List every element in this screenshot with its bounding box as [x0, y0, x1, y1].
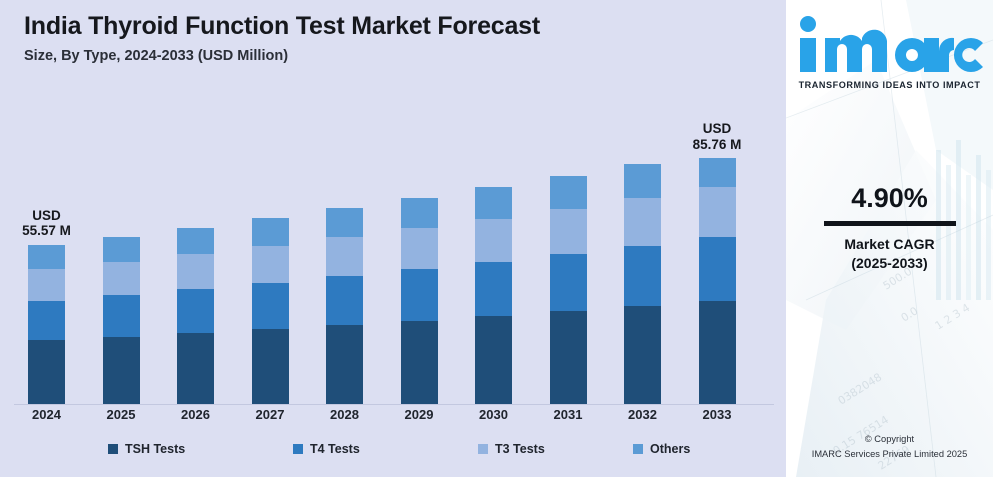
bar-segment-t4-tests-2024[interactable] — [28, 301, 65, 341]
bar-segment-others-2031[interactable] — [550, 176, 587, 209]
x-axis-tick-2027: 2027 — [240, 407, 300, 422]
bar-segment-t4-tests-2026[interactable] — [177, 289, 214, 333]
bar-segment-t3-tests-2029[interactable] — [401, 228, 438, 269]
bar-segment-tsh-tests-2028[interactable] — [326, 325, 363, 404]
cagr-label-period: (2025-2033) — [786, 254, 993, 273]
bar-segment-t3-tests-2033[interactable] — [699, 187, 736, 237]
page-title: India Thyroid Function Test Market Forec… — [24, 12, 744, 41]
bar-segment-t4-tests-2025[interactable] — [103, 295, 140, 337]
legend-item-tsh-tests[interactable]: TSH Tests — [108, 442, 185, 456]
x-axis-tick-2028: 2028 — [315, 407, 375, 422]
bar-segment-others-2033[interactable] — [699, 158, 736, 187]
bar-value-label-2024: USD55.57 M — [22, 208, 71, 239]
legend-label: T3 Tests — [495, 442, 545, 456]
bar-segment-t3-tests-2032[interactable] — [624, 198, 661, 246]
legend-item-t4-tests[interactable]: T4 Tests — [293, 442, 360, 456]
bar-segment-t4-tests-2030[interactable] — [475, 262, 512, 316]
cagr-value: 4.90% — [786, 185, 993, 212]
legend-swatch-icon — [633, 444, 643, 454]
bar-segment-tsh-tests-2026[interactable] — [177, 333, 214, 404]
legend-swatch-icon — [478, 444, 488, 454]
legend-swatch-icon — [108, 444, 118, 454]
bar-segment-t3-tests-2031[interactable] — [550, 209, 587, 254]
cagr-label-primary: Market CAGR — [786, 235, 993, 254]
bar-segment-t4-tests-2033[interactable] — [699, 237, 736, 301]
bar-segment-others-2030[interactable] — [475, 187, 512, 219]
x-axis-tick-2032: 2032 — [613, 407, 673, 422]
x-axis: 2024202520262027202820292030203120322033 — [0, 405, 786, 431]
brand-panel: 500.0 0.0 1 2 3 4 0382048 0.15 76514 227… — [786, 0, 993, 477]
bar-value-label-2033: USD85.76 M — [693, 121, 742, 152]
legend-label: Others — [650, 442, 690, 456]
x-axis-tick-2026: 2026 — [166, 407, 226, 422]
bar-group-2030[interactable] — [475, 187, 512, 404]
bar-segment-tsh-tests-2033[interactable] — [699, 301, 736, 404]
copyright-line-2: IMARC Services Private Limited 2025 — [786, 447, 993, 461]
bar-segment-tsh-tests-2029[interactable] — [401, 321, 438, 404]
bar-segment-t4-tests-2032[interactable] — [624, 246, 661, 306]
bar-group-2026[interactable] — [177, 228, 214, 404]
brand-content: TRANSFORMING IDEAS INTO IMPACT 4.90% Mar… — [786, 0, 993, 477]
bar-group-2031[interactable] — [550, 176, 587, 404]
bar-segment-t3-tests-2030[interactable] — [475, 219, 512, 262]
brand-tagline: TRANSFORMING IDEAS INTO IMPACT — [786, 80, 993, 90]
bar-segment-others-2028[interactable] — [326, 208, 363, 237]
copyright-line-1: © Copyright — [786, 432, 993, 446]
x-axis-tick-2025: 2025 — [91, 407, 151, 422]
title-block: India Thyroid Function Test Market Forec… — [24, 12, 744, 64]
page-subtitle: Size, By Type, 2024-2033 (USD Million) — [24, 48, 744, 64]
bar-segment-tsh-tests-2031[interactable] — [550, 311, 587, 404]
bar-segment-others-2029[interactable] — [401, 198, 438, 228]
imarc-wordmark-icon — [795, 14, 985, 76]
bar-segment-others-2024[interactable] — [28, 245, 65, 269]
legend-swatch-icon — [293, 444, 303, 454]
x-axis-tick-2033: 2033 — [687, 407, 747, 422]
bar-group-2024[interactable]: USD55.57 M — [28, 245, 65, 404]
imarc-logo: TRANSFORMING IDEAS INTO IMPACT — [786, 14, 993, 90]
bar-segment-tsh-tests-2030[interactable] — [475, 316, 512, 404]
chart-panel: India Thyroid Function Test Market Forec… — [0, 0, 786, 477]
bar-segment-t3-tests-2024[interactable] — [28, 269, 65, 301]
copyright-notice: © Copyright IMARC Services Private Limit… — [786, 432, 993, 461]
bar-segment-t3-tests-2026[interactable] — [177, 254, 214, 289]
legend-label: T4 Tests — [310, 442, 360, 456]
x-axis-tick-2029: 2029 — [389, 407, 449, 422]
bar-group-2025[interactable] — [103, 237, 140, 405]
chart-screenshot: India Thyroid Function Test Market Forec… — [0, 0, 993, 477]
bar-segment-t4-tests-2028[interactable] — [326, 276, 363, 325]
x-axis-tick-2030: 2030 — [464, 407, 524, 422]
cagr-divider — [824, 221, 956, 226]
legend-label: TSH Tests — [125, 442, 185, 456]
bar-group-2028[interactable] — [326, 208, 363, 404]
plot-area: USD55.57 MUSD85.76 M — [0, 95, 786, 405]
bar-segment-others-2026[interactable] — [177, 228, 214, 254]
chart-legend: TSH TestsT4 TestsT3 TestsOthers — [0, 442, 786, 468]
bar-segment-others-2032[interactable] — [624, 164, 661, 199]
legend-item-t3-tests[interactable]: T3 Tests — [478, 442, 545, 456]
cagr-block: 4.90% Market CAGR (2025-2033) — [786, 185, 993, 273]
bar-segment-tsh-tests-2024[interactable] — [28, 340, 65, 404]
legend-item-others[interactable]: Others — [633, 442, 690, 456]
bar-segment-tsh-tests-2032[interactable] — [624, 306, 661, 404]
bar-segment-t4-tests-2031[interactable] — [550, 254, 587, 311]
bar-segment-t3-tests-2027[interactable] — [252, 246, 289, 283]
bar-group-2027[interactable] — [252, 218, 289, 404]
bar-segment-t4-tests-2029[interactable] — [401, 269, 438, 321]
bar-segment-others-2025[interactable] — [103, 237, 140, 262]
bar-segment-tsh-tests-2027[interactable] — [252, 329, 289, 404]
bar-segment-t4-tests-2027[interactable] — [252, 283, 289, 329]
bar-segment-tsh-tests-2025[interactable] — [103, 337, 140, 404]
x-axis-tick-2031: 2031 — [538, 407, 598, 422]
bar-group-2033[interactable]: USD85.76 M — [699, 158, 736, 404]
bar-segment-others-2027[interactable] — [252, 218, 289, 245]
x-axis-tick-2024: 2024 — [17, 407, 77, 422]
bar-segment-t3-tests-2028[interactable] — [326, 237, 363, 276]
bar-segment-t3-tests-2025[interactable] — [103, 262, 140, 295]
bar-group-2029[interactable] — [401, 198, 438, 404]
bar-group-2032[interactable] — [624, 164, 661, 404]
